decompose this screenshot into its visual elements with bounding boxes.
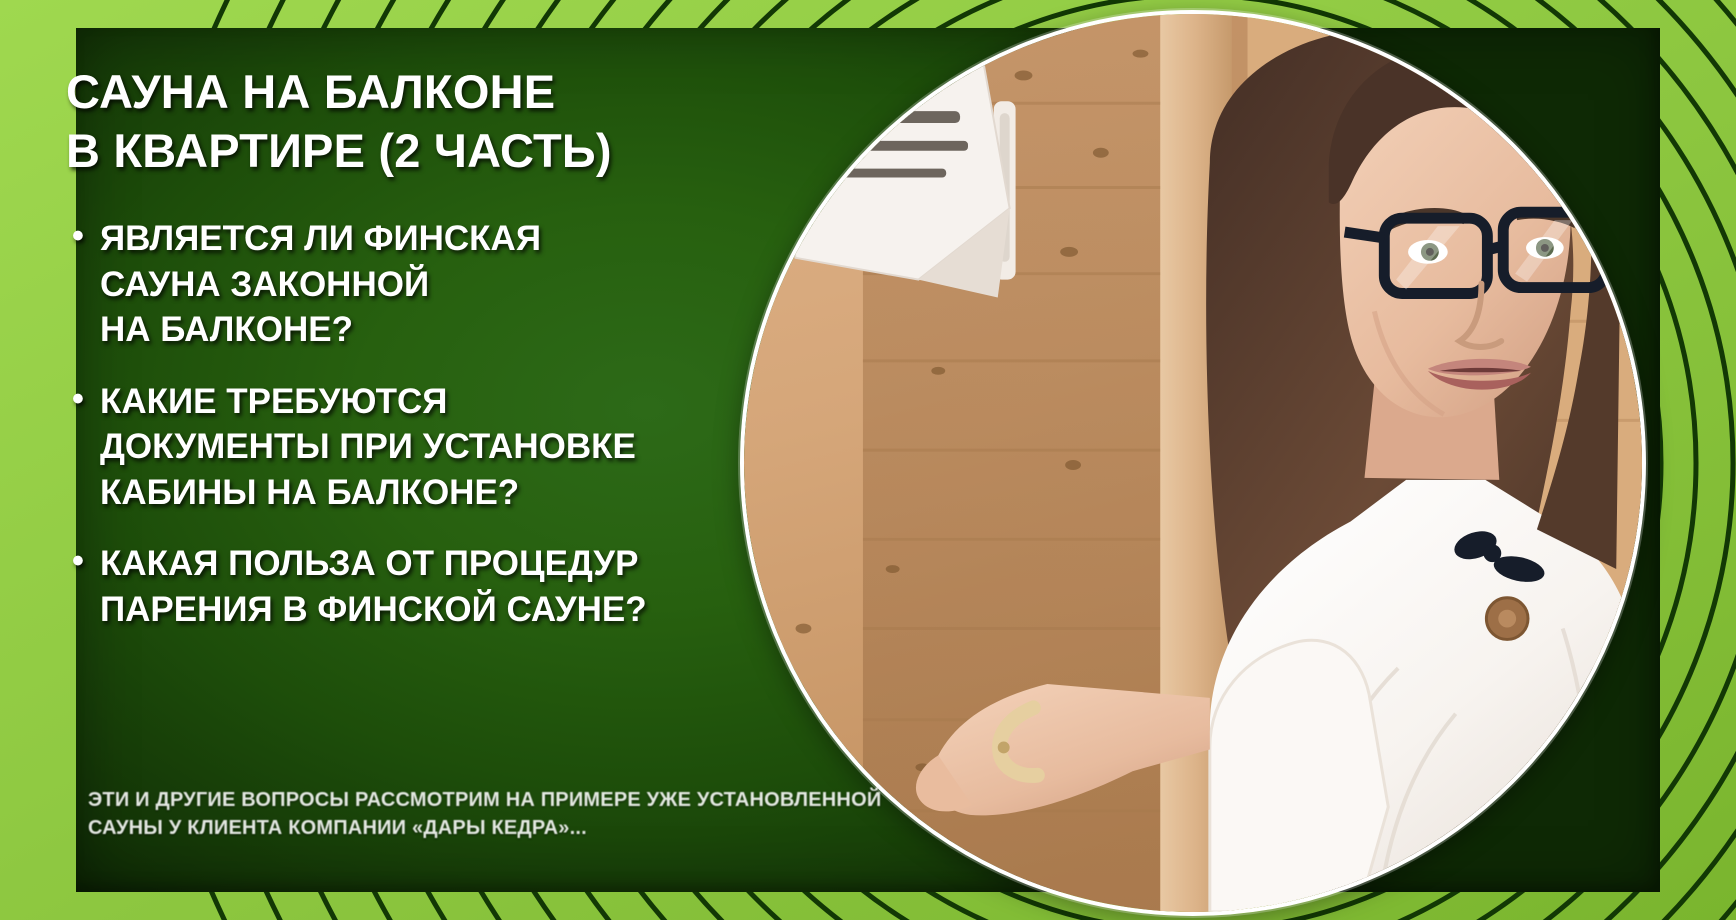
poster: САУНА НА БАЛКОНЕ В КВАРТИРЕ (2 ЧАСТЬ) ЯВ…	[0, 0, 1736, 920]
page-title: САУНА НА БАЛКОНЕ В КВАРТИРЕ (2 ЧАСТЬ)	[66, 62, 856, 180]
question-list: ЯВЛЯЕТСЯ ЛИ ФИНСКАЯ САУНА ЗАКОННОЙ НА БА…	[66, 216, 856, 632]
list-item: КАКИЕ ТРЕБУЮТСЯ ДОКУМЕНТЫ ПРИ УСТАНОВКЕ …	[66, 379, 856, 516]
footnote-text: ЭТИ И ДРУГИЕ ВОПРОСЫ РАССМОТРИМ НА ПРИМЕ…	[88, 786, 968, 843]
list-item: ЯВЛЯЕТСЯ ЛИ ФИНСКАЯ САУНА ЗАКОННОЙ НА БА…	[66, 216, 856, 353]
text-column: САУНА НА БАЛКОНЕ В КВАРТИРЕ (2 ЧАСТЬ) ЯВ…	[66, 62, 856, 658]
list-item: КАКАЯ ПОЛЬЗА ОТ ПРОЦЕДУР ПАРЕНИЯ В ФИНСК…	[66, 541, 856, 632]
presenter-photo	[740, 10, 1646, 916]
